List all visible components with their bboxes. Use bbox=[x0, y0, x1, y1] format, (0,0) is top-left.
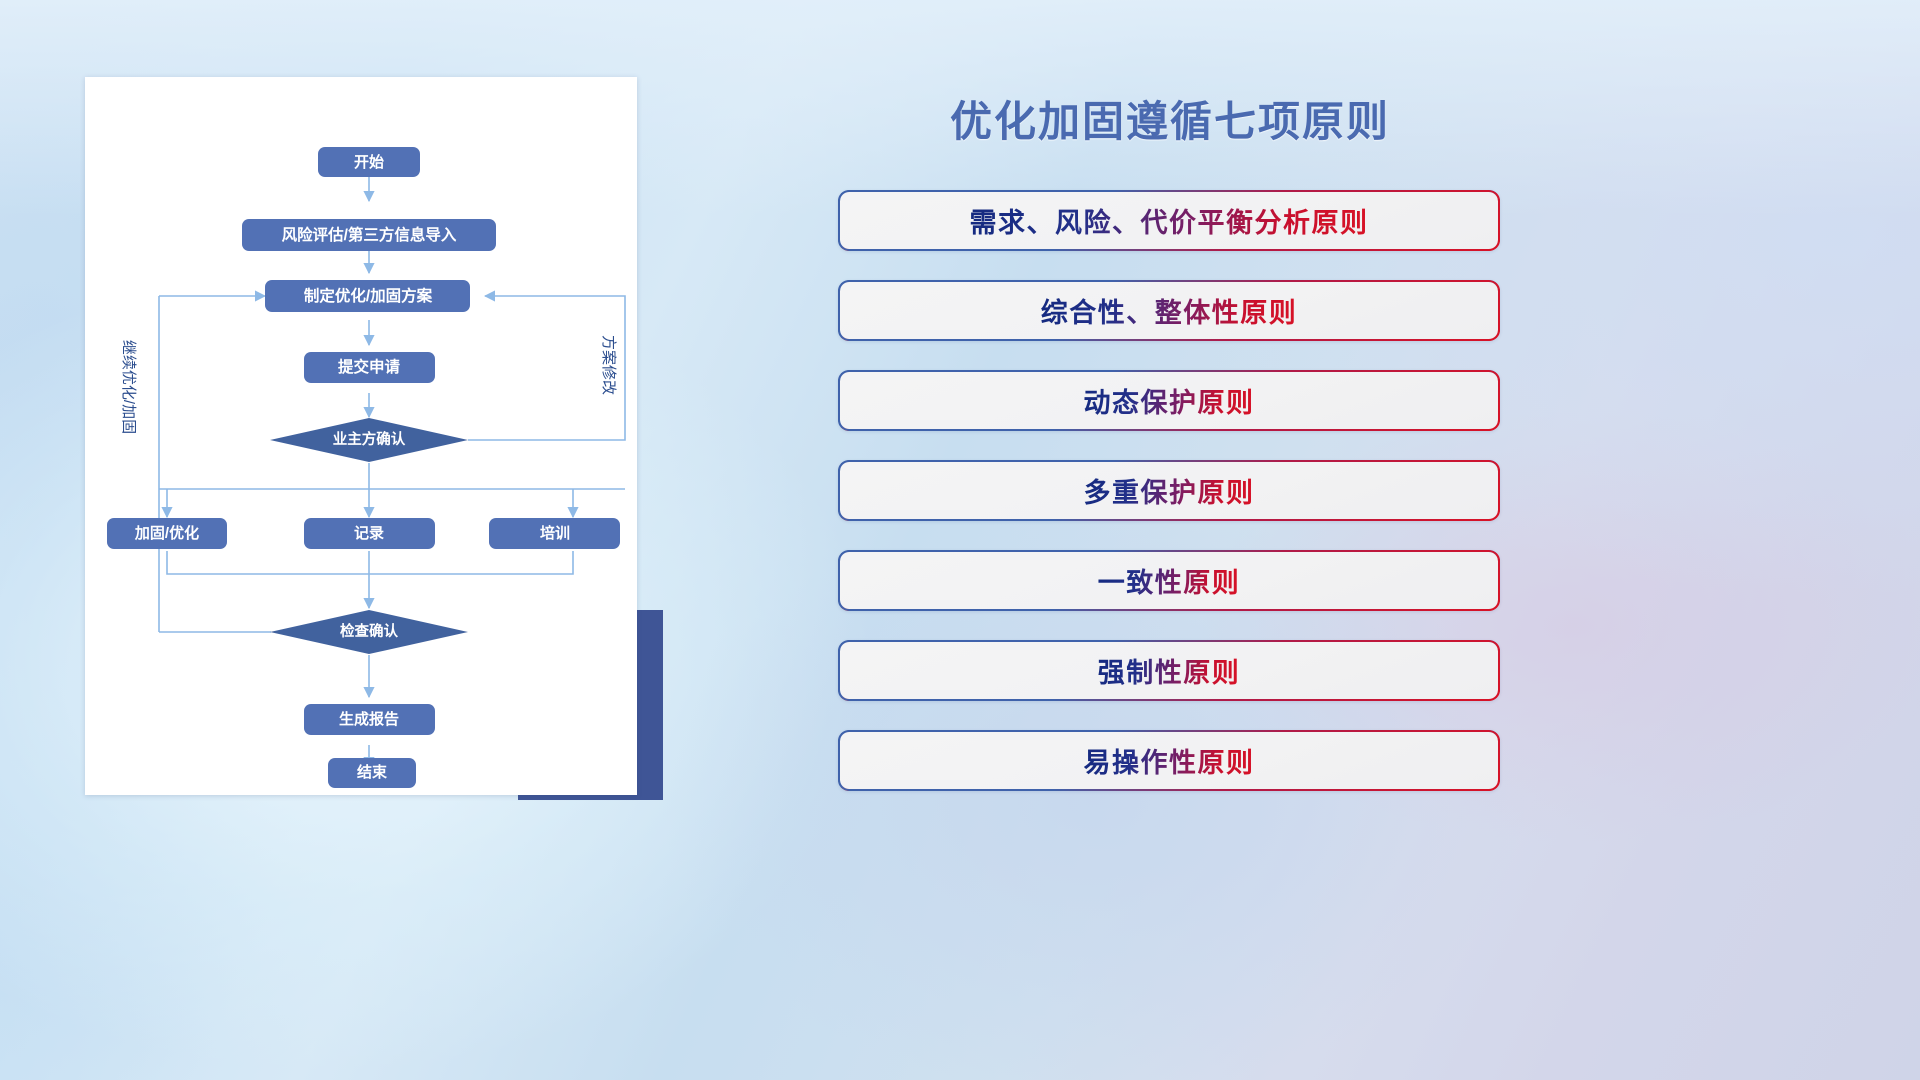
flow-node-plan[interactable]: 制定优化/加固方案 bbox=[265, 280, 470, 312]
connector-group bbox=[159, 175, 625, 767]
principle-card-1[interactable]: 需求、风险、代价平衡分析原则 bbox=[838, 190, 1500, 251]
principle-card-5[interactable]: 一致性原则 bbox=[838, 550, 1500, 611]
node-group: 开始 风险评估/第三方信息导入 制定优化/加固方案 提交申请 bbox=[107, 147, 620, 788]
flow-node-submit[interactable]: 提交申请 bbox=[304, 352, 435, 383]
edge-label-continue-optimize: 继续优化/加固 bbox=[120, 340, 137, 434]
flow-node-end-label: 结束 bbox=[357, 763, 388, 781]
edge-label-plan-revision: 方案修改 bbox=[600, 335, 618, 395]
principle-label-4: 多重保护原则 bbox=[1084, 471, 1255, 510]
principle-label-1: 需求、风险、代价平衡分析原则 bbox=[970, 201, 1369, 240]
flow-node-risk[interactable]: 风险评估/第三方信息导入 bbox=[242, 219, 496, 251]
flow-node-submit-label: 提交申请 bbox=[338, 357, 401, 376]
principle-label-7: 易操作性原则 bbox=[1084, 741, 1255, 780]
flow-node-start-label: 开始 bbox=[354, 153, 384, 171]
principle-label-5: 一致性原则 bbox=[1098, 561, 1241, 600]
flow-node-risk-label: 风险评估/第三方信息导入 bbox=[282, 225, 457, 244]
principles-panel: 优化加固遵循七项原则 需求、风险、代价平衡分析原则 综合性、整体性原则 动态保护… bbox=[820, 0, 1520, 1080]
flow-node-report[interactable]: 生成报告 bbox=[304, 704, 435, 735]
principle-label-3: 动态保护原则 bbox=[1084, 381, 1255, 420]
principle-card-2[interactable]: 综合性、整体性原则 bbox=[838, 280, 1500, 341]
flowchart-diagram: 开始 风险评估/第三方信息导入 制定优化/加固方案 提交申请 bbox=[85, 77, 637, 795]
flow-node-record[interactable]: 记录 bbox=[304, 518, 435, 549]
principle-card-3[interactable]: 动态保护原则 bbox=[838, 370, 1500, 431]
principle-label-6: 强制性原则 bbox=[1098, 651, 1241, 690]
principle-label-2: 综合性、整体性原则 bbox=[1041, 291, 1298, 330]
flow-node-check[interactable]: 检查确认 bbox=[270, 610, 468, 654]
edge-merge-bus bbox=[167, 551, 573, 574]
flow-node-training[interactable]: 培训 bbox=[489, 518, 620, 549]
flow-node-record-label: 记录 bbox=[354, 525, 384, 542]
flow-node-end[interactable]: 结束 bbox=[328, 758, 416, 788]
flowchart-card: 开始 风险评估/第三方信息导入 制定优化/加固方案 提交申请 bbox=[85, 77, 637, 795]
principle-card-7[interactable]: 易操作性原则 bbox=[838, 730, 1500, 791]
principles-list: 需求、风险、代价平衡分析原则 综合性、整体性原则 动态保护原则 多重保护原则 一… bbox=[838, 190, 1500, 820]
panel-title: 优化加固遵循七项原则 bbox=[820, 88, 1520, 149]
flow-node-report-label: 生成报告 bbox=[339, 710, 399, 728]
principle-card-4[interactable]: 多重保护原则 bbox=[838, 460, 1500, 521]
flow-node-plan-label: 制定优化/加固方案 bbox=[304, 286, 433, 305]
flow-node-reinforce[interactable]: 加固/优化 bbox=[107, 518, 227, 549]
flow-node-training-label: 培训 bbox=[540, 524, 570, 542]
flow-node-check-label: 检查确认 bbox=[340, 622, 398, 640]
flow-node-owner-confirm[interactable]: 业主方确认 bbox=[270, 418, 468, 462]
principle-card-6[interactable]: 强制性原则 bbox=[838, 640, 1500, 701]
flow-node-reinforce-label: 加固/优化 bbox=[134, 524, 199, 542]
flow-node-owner-confirm-label: 业主方确认 bbox=[333, 430, 406, 448]
flow-node-start[interactable]: 开始 bbox=[318, 147, 420, 177]
